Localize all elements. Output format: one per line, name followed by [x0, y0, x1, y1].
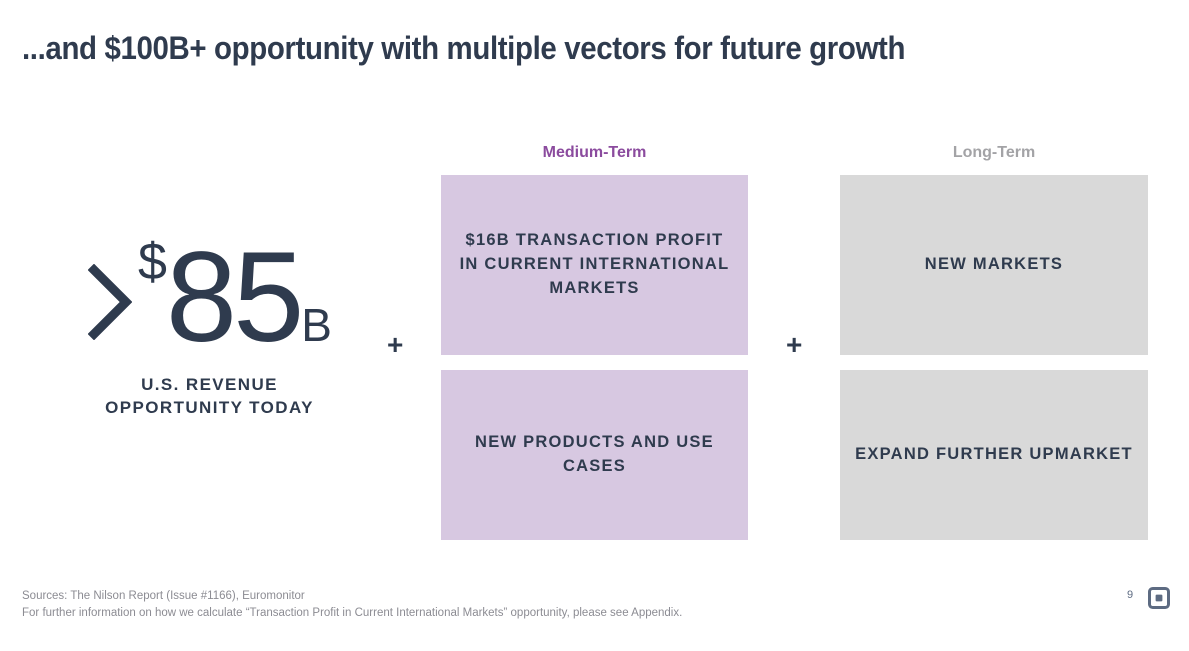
- greater-than-icon: [88, 264, 132, 340]
- stat-figure: $ 85 B: [52, 232, 367, 352]
- square-block-logo-icon: [1148, 587, 1170, 609]
- box-label: EXPAND FURTHER UPMARKET: [855, 443, 1133, 467]
- us-revenue-stat-block: $ 85 B U.S. REVENUE OPPORTUNITY TODAY: [52, 232, 367, 420]
- plus-operator-2: +: [786, 331, 802, 359]
- medium-term-box-new-products: NEW PRODUCTS AND USE CASES: [441, 370, 748, 540]
- currency-symbol: $: [138, 236, 166, 288]
- long-term-box-expand-upmarket: EXPAND FURTHER UPMARKET: [840, 370, 1148, 540]
- box-label: NEW MARKETS: [925, 253, 1063, 277]
- stat-caption-line-1: U.S. REVENUE: [52, 374, 367, 397]
- stat-caption: U.S. REVENUE OPPORTUNITY TODAY: [52, 374, 367, 420]
- page-title: ...and $100B+ opportunity with multiple …: [22, 30, 905, 67]
- stat-unit: B: [301, 302, 331, 348]
- column-header-medium-term: Medium-Term: [441, 144, 748, 162]
- column-header-long-term: Long-Term: [840, 144, 1148, 162]
- page-number: 9: [1127, 589, 1133, 601]
- footer-line-2: For further information on how we calcul…: [22, 605, 682, 622]
- long-term-box-new-markets: NEW MARKETS: [840, 175, 1148, 355]
- box-label: NEW PRODUCTS AND USE CASES: [455, 431, 734, 479]
- footer-line-1: Sources: The Nilson Report (Issue #1166)…: [22, 588, 682, 605]
- box-highlight-value: $16B: [466, 231, 510, 249]
- footer-sources: Sources: The Nilson Report (Issue #1166)…: [22, 588, 682, 623]
- stat-amount: 85: [166, 244, 300, 352]
- stat-caption-line-2: OPPORTUNITY TODAY: [52, 397, 367, 420]
- medium-term-box-transaction-profit: $16B TRANSACTION PROFIT IN CURRENT INTER…: [441, 175, 748, 355]
- plus-operator-1: +: [387, 331, 403, 359]
- box-label: $16B TRANSACTION PROFIT IN CURRENT INTER…: [455, 229, 734, 301]
